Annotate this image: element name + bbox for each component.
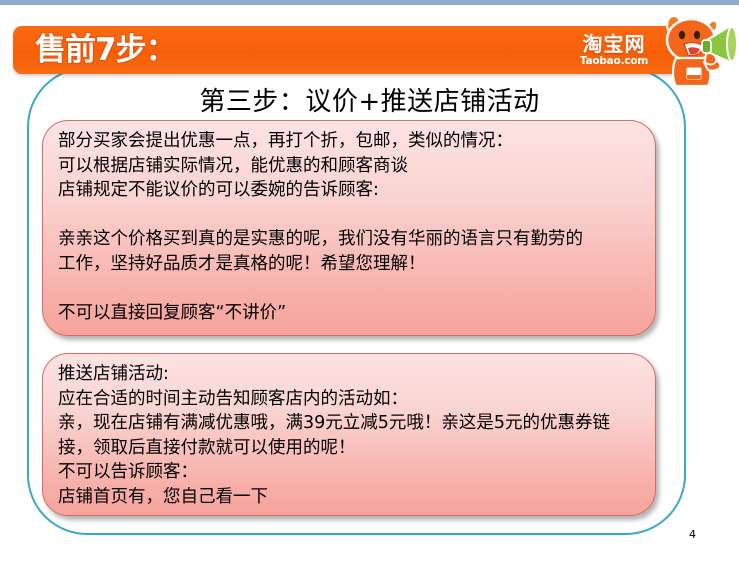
line: 部分买家会提出优惠一点，再打个折，包邮，类似的情况：	[58, 129, 645, 154]
negotiation-box: 部分买家会提出优惠一点，再打个折，包邮，类似的情况： 可以根据店铺实际情况，能优…	[42, 120, 656, 336]
header-title: 售前7步：	[35, 30, 176, 70]
line: 应在合适的时间主动告知顾客店内的活动如：	[58, 387, 645, 412]
line: 店铺首页有，您自己看一下	[58, 485, 645, 510]
line: 亲，现在店铺有满减优惠哦，满39元立减5元哦！亲这是5元的优惠券链	[58, 411, 645, 436]
line: 店铺规定不能议价的可以委婉的告诉顾客:	[58, 178, 645, 203]
line: 亲亲这个价格买到真的是实惠的呢，我们没有华丽的语言只有勤劳的	[58, 227, 645, 252]
page-number: 4	[689, 528, 696, 541]
line: 工作，坚持好品质才是真格的呢！希望您理解！	[58, 252, 645, 277]
line: 可以根据店铺实际情况，能优惠的和顾客商谈	[58, 154, 645, 179]
negotiation-box-text: 部分买家会提出优惠一点，再打个折，包邮，类似的情况： 可以根据店铺实际情况，能优…	[58, 129, 645, 326]
line-spacer	[58, 203, 645, 228]
line-spacer	[58, 277, 645, 302]
promotion-box: 推送店铺活动: 应在合适的时间主动告知顾客店内的活动如： 亲，现在店铺有满减优惠…	[42, 353, 656, 516]
line: 不可以直接回复顾客“不讲价”	[58, 301, 645, 326]
slide-canvas: 售前7步： 淘宝网 Taobao.com	[0, 5, 739, 562]
taobao-logo-english: Taobao.com	[573, 56, 655, 67]
taobao-logo-chinese: 淘宝网	[573, 34, 655, 54]
line: 不可以告诉顾客：	[58, 460, 645, 485]
taobao-mascot-icon	[650, 10, 738, 88]
line: 推送店铺活动:	[58, 362, 645, 387]
taobao-logo: 淘宝网 Taobao.com	[573, 34, 655, 67]
page-title: 第三步：议价+推送店铺活动	[0, 81, 739, 118]
promotion-box-text: 推送店铺活动: 应在合适的时间主动告知顾客店内的活动如： 亲，现在店铺有满减优惠…	[58, 362, 645, 510]
line: 接，领取后直接付款就可以使用的呢！	[58, 436, 645, 461]
